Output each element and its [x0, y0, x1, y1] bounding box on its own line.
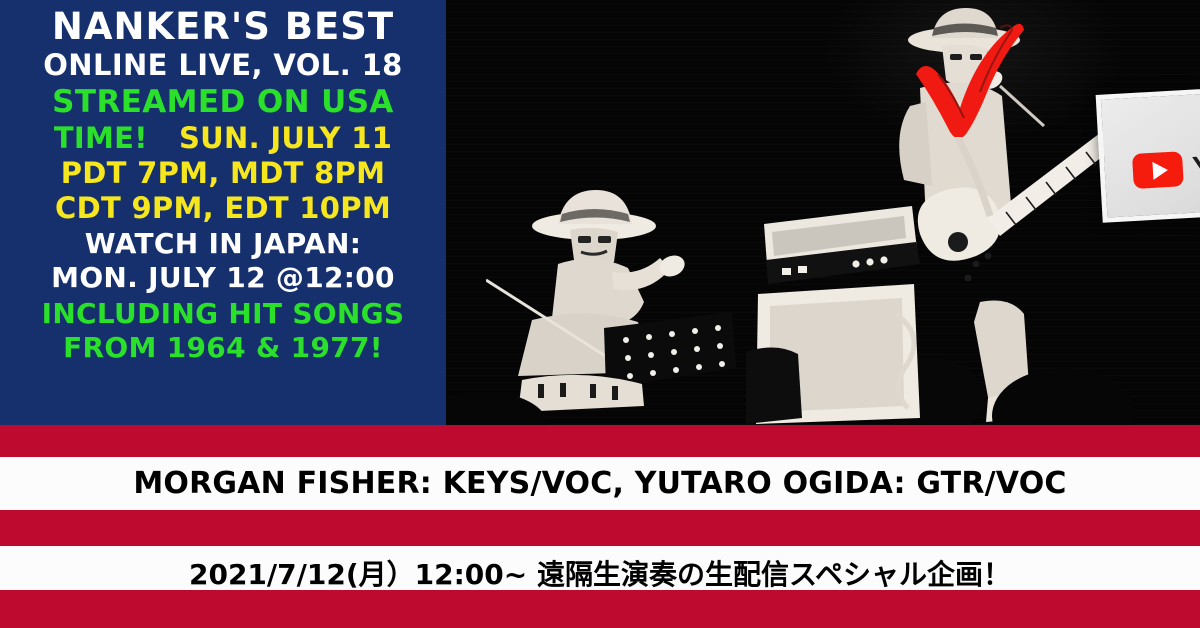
stage-photo: on YouTube: [446, 0, 1200, 425]
setlist-note-line2: FROM 1964 & 1977!: [6, 334, 440, 362]
japan-watch-label: WATCH IN JAPAN:: [6, 230, 440, 258]
info-panel: NANKER'S BEST ONLINE LIVE, VOL. 18 STREA…: [0, 0, 446, 425]
performers-credit: MORGAN FISHER: KEYS/VOC, YUTARO OGIDA: G…: [0, 466, 1200, 501]
youtube-card[interactable]: on YouTube: [1096, 81, 1200, 223]
japanese-event-line: 2021/7/12(月）12:00~ 遠隔生演奏の生配信スペシャル企画！: [0, 553, 1200, 593]
stream-date-line: TIME! SUN. JULY 11: [6, 124, 440, 153]
youtube-logo-row: YouTube: [1132, 144, 1200, 189]
poster-subtitle: ONLINE LIVE, VOL. 18: [6, 51, 440, 80]
stream-date-usa: SUN. JULY 11: [179, 121, 392, 155]
youtube-wordmark: YouTube: [1191, 146, 1200, 183]
timezone-line-cdt-edt: CDT 9PM, EDT 10PM: [6, 194, 440, 223]
stripe-red-1: [0, 425, 1200, 457]
stream-time-emphasis: TIME!: [54, 121, 148, 155]
play-triangle-icon: [1152, 161, 1168, 180]
event-poster: NANKER'S BEST ONLINE LIVE, VOL. 18 STREA…: [0, 0, 1200, 628]
japan-watch-datetime: MON. JULY 12 @12:00: [6, 264, 440, 292]
poster-title: NANKER'S BEST: [6, 8, 440, 45]
timezone-line-pdt-mdt: PDT 7PM, MDT 8PM: [6, 159, 440, 188]
amplifier-stack: [746, 196, 936, 425]
poster-top-area: NANKER'S BEST ONLINE LIVE, VOL. 18 STREA…: [0, 0, 1200, 425]
stripe-red-3: [0, 590, 1200, 628]
stream-region-line: STREAMED ON USA: [6, 87, 440, 118]
setlist-note-line1: INCLUDING HIT SONGS: [6, 300, 440, 328]
crowd-silhouette-right: [984, 352, 1144, 425]
stripe-red-2: [0, 510, 1200, 546]
crowd-silhouette-left: [446, 372, 576, 425]
red-check-mark-icon: [908, 12, 1028, 137]
youtube-play-icon: [1132, 151, 1184, 189]
